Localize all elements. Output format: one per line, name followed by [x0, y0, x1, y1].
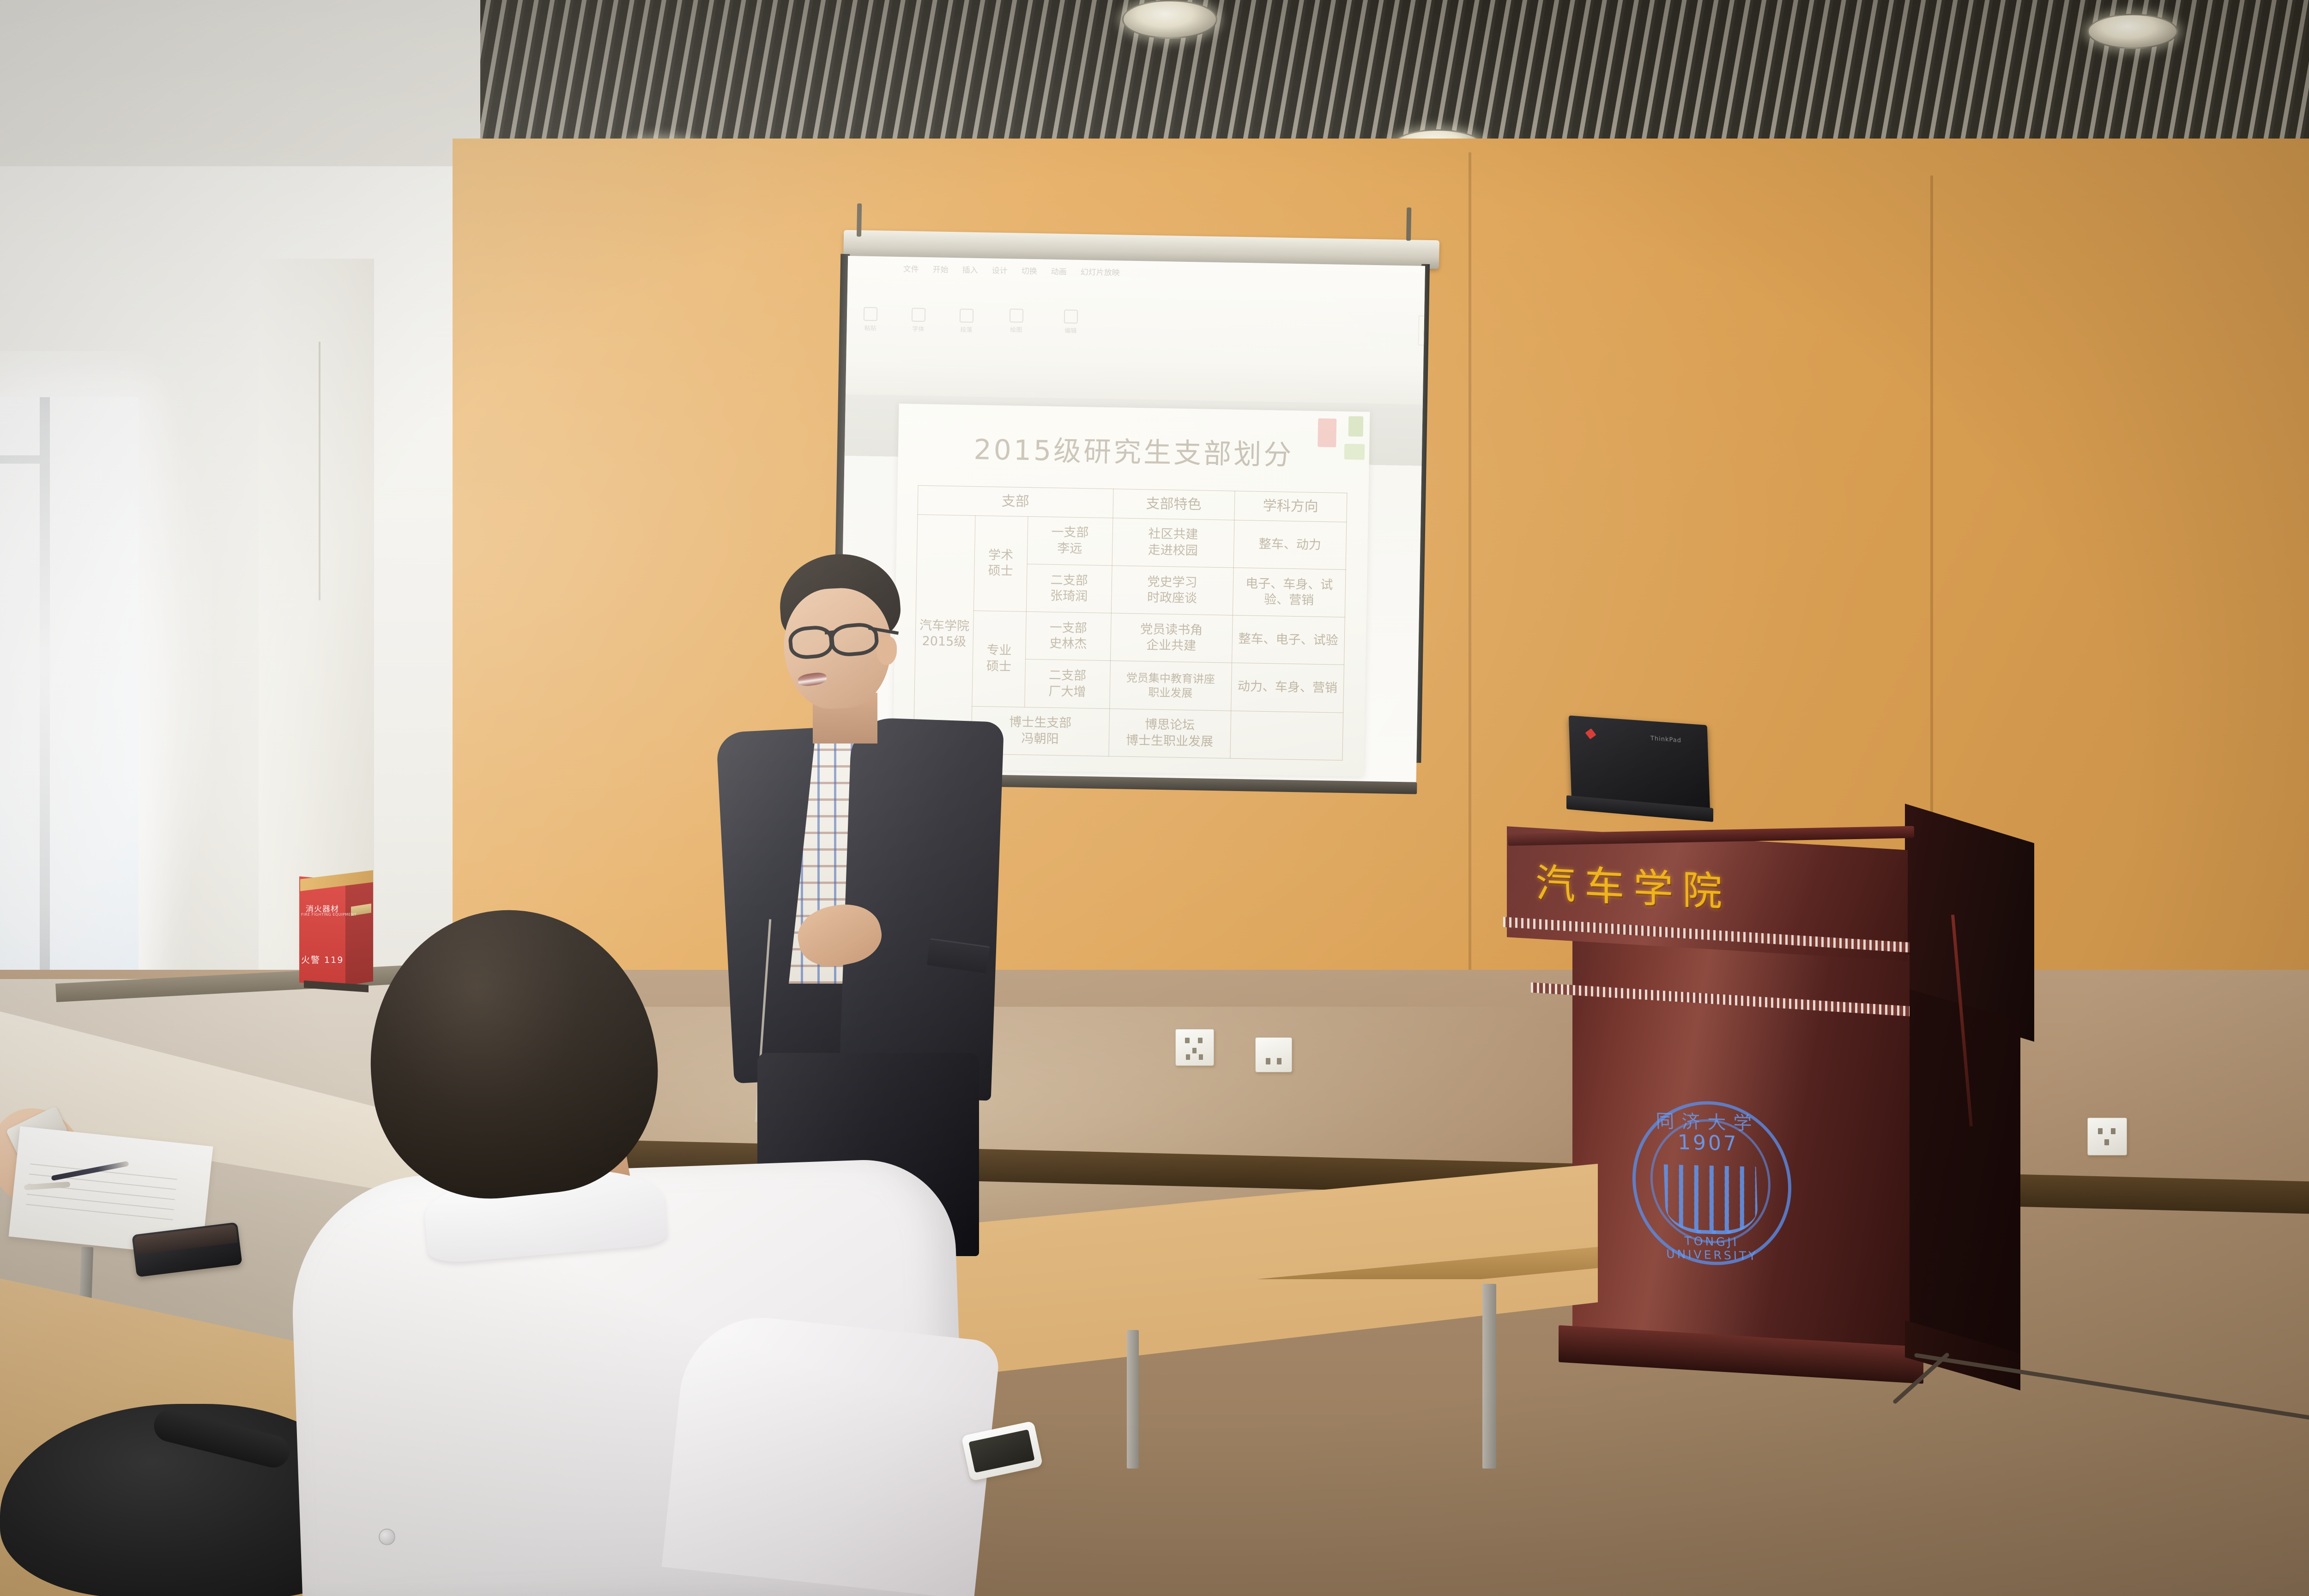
- table-cell-branch: 一支部: [1028, 524, 1111, 542]
- table-cell-feature2: 企业共建: [1112, 637, 1231, 655]
- outlet-slot: [1277, 1058, 1281, 1064]
- table-cell-feature: 党员读书角: [1112, 621, 1231, 639]
- screen-mount-hook-left: [857, 203, 862, 236]
- seal-english-name: TONGJI UNIVERSITY: [1638, 1233, 1786, 1263]
- table-cell-feature2: 职业发展: [1111, 685, 1230, 701]
- table-header-branch: 支部: [918, 485, 1113, 518]
- seal-year: 1907: [1634, 1130, 1783, 1157]
- powerpoint-ribbon: 文件 开始 插入 设计 切换 动画 幻灯片放映 粘贴 字体: [846, 256, 1425, 409]
- ribbon-group-label: 段落: [960, 325, 972, 333]
- ceiling-light-1: [1122, 0, 1217, 39]
- ribbon-group-label: 粘贴: [864, 323, 876, 332]
- laptop-brand-label: ThinkPad: [1650, 735, 1682, 744]
- ribbon-group-label: 字体: [912, 324, 924, 333]
- table-leg: [1482, 1284, 1496, 1469]
- ribbon-group-label: 绘图: [1010, 325, 1022, 333]
- slide-decoration-green-1: [1348, 416, 1364, 437]
- ribbon-tab[interactable]: 插入: [962, 263, 978, 275]
- font-icon: [912, 308, 926, 322]
- ribbon-tab[interactable]: 设计: [992, 264, 1008, 276]
- table-cell-discipline: [1230, 711, 1343, 761]
- outlet-slot: [2111, 1128, 2116, 1134]
- photo-scene: 文件 开始 插入 设计 切换 动画 幻灯片放映 粘贴 字体: [0, 0, 2309, 1596]
- ribbon-tab[interactable]: 幻灯片放映: [1081, 266, 1120, 278]
- presenter-ear: [876, 636, 897, 665]
- slide-decoration-green-2: [1344, 444, 1365, 460]
- seated-attendee: [286, 910, 979, 1596]
- outlet-slot: [1198, 1038, 1203, 1043]
- outlet-slot: [2104, 1139, 2109, 1145]
- ribbon-group-label: 编辑: [1064, 326, 1076, 334]
- university-seal: 同济大学 1907 TONGJI UNIVERSITY: [1630, 1100, 1794, 1267]
- window-light-bloom: [0, 351, 212, 1044]
- ceiling-light-2: [2087, 14, 2178, 49]
- table-cell-discipline: 整车、动力: [1233, 520, 1347, 569]
- table-cell-feature2: 走进校园: [1113, 542, 1233, 560]
- ribbon-group-drawing[interactable]: 绘图: [1009, 308, 1023, 334]
- table-cell-discipline: 电子、车身、试验、营销: [1233, 568, 1346, 617]
- table-cell-discipline: 整车、电子、试验: [1232, 615, 1345, 665]
- thinkpad-logo-dot-icon: [1585, 728, 1596, 739]
- table-cell-feature: 社区共建: [1113, 526, 1233, 544]
- jacket-button: [379, 1529, 395, 1545]
- table-cell-feature2: 博士生职业发展: [1110, 732, 1229, 750]
- outlet-slot: [2098, 1128, 2103, 1134]
- table-cell-feature2: 时政座谈: [1112, 589, 1232, 607]
- search-icon: [1064, 309, 1078, 324]
- pillar-seam: [319, 342, 320, 600]
- ribbon-group-font[interactable]: 字体: [911, 308, 925, 333]
- outlet-slot: [1185, 1038, 1190, 1043]
- seal-boat-emblem-icon: [1664, 1164, 1759, 1235]
- ribbon-tab[interactable]: 切换: [1022, 265, 1037, 277]
- table-leg: [1127, 1330, 1139, 1469]
- ribbon-group-editing[interactable]: 编辑: [1064, 309, 1078, 335]
- paragraph-icon: [960, 308, 974, 323]
- ribbon-tab[interactable]: 开始: [933, 263, 949, 275]
- ribbon-tab[interactable]: 文件: [903, 262, 919, 274]
- shapes-icon: [1009, 308, 1024, 323]
- lectern-podium: 汽车学院 同济大学 1907 TONGJI UNIVERSITY: [1499, 806, 1993, 1475]
- slide-decoration-pink: [1318, 418, 1336, 447]
- table-cell-discipline: 动力、车身、营销: [1231, 663, 1344, 713]
- wall-outlet-1[interactable]: [1175, 1029, 1214, 1066]
- paste-icon: [864, 307, 878, 321]
- outlet-slot: [1186, 1054, 1190, 1060]
- screen-mount-hook-right: [1406, 207, 1411, 241]
- table-cell-feature: 博思论坛: [1110, 716, 1230, 734]
- table-header-feature: 支部特色: [1112, 489, 1234, 520]
- wall-outlet-2[interactable]: [1255, 1037, 1292, 1072]
- ribbon-tab[interactable]: 动画: [1051, 265, 1067, 277]
- outlet-slot: [1199, 1054, 1203, 1060]
- wall-outlet-3[interactable]: [2087, 1118, 2127, 1155]
- podium-college-name: 汽车学院: [1535, 851, 1794, 920]
- slide-title: 2015级研究生支部划分: [898, 426, 1369, 474]
- smartphone-white-screen: [968, 1429, 1034, 1473]
- table-header-discipline: 学科方向: [1234, 491, 1347, 522]
- table-cell-feature: 党员集中教育讲座: [1111, 671, 1231, 687]
- attendee-arm: [662, 1310, 1001, 1596]
- ribbon-group-paragraph[interactable]: 段落: [959, 308, 973, 334]
- outlet-slot: [1192, 1048, 1197, 1053]
- wall-pillar: [259, 259, 374, 979]
- table-cell-feature: 党史学习: [1112, 574, 1232, 592]
- ribbon-group-paste[interactable]: 粘贴: [863, 307, 877, 332]
- outlet-slot: [1266, 1058, 1270, 1064]
